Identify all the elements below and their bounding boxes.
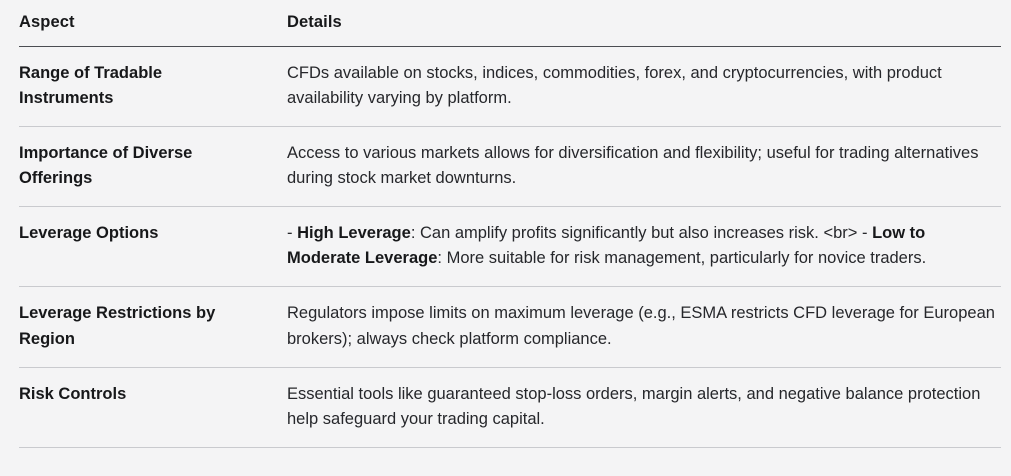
cell-details: CFDs available on stocks, indices, commo…: [268, 47, 1001, 127]
aspect-details-table: Aspect Details Range of Tradable Instrum…: [19, 0, 1001, 448]
cell-aspect: Leverage Restrictions by Region: [19, 287, 268, 367]
details-text: Access to various markets allows for div…: [287, 144, 978, 187]
table-row: Leverage Options- High Leverage: Can amp…: [19, 207, 1001, 287]
table-container: Aspect Details Range of Tradable Instrum…: [0, 0, 1011, 476]
details-emphasis: High Leverage: [297, 224, 411, 242]
details-text: : More suitable for risk management, par…: [437, 249, 926, 267]
table-row: Leverage Restrictions by RegionRegulator…: [19, 287, 1001, 367]
details-text: Essential tools like guaranteed stop-los…: [287, 385, 980, 428]
cell-details: Access to various markets allows for div…: [268, 127, 1001, 207]
cell-aspect: Range of Tradable Instruments: [19, 47, 268, 127]
cell-aspect: Risk Controls: [19, 367, 268, 447]
table-body: Range of Tradable InstrumentsCFDs availa…: [19, 47, 1001, 448]
table-header: Aspect Details: [19, 0, 1001, 47]
cell-aspect: Importance of Diverse Offerings: [19, 127, 268, 207]
column-header-details: Details: [268, 0, 1001, 47]
details-text: -: [287, 224, 297, 242]
table-header-row: Aspect Details: [19, 0, 1001, 47]
cell-details: Essential tools like guaranteed stop-los…: [268, 367, 1001, 447]
details-text: Regulators impose limits on maximum leve…: [287, 304, 995, 347]
cell-details: Regulators impose limits on maximum leve…: [268, 287, 1001, 367]
table-row: Risk ControlsEssential tools like guaran…: [19, 367, 1001, 447]
details-text: : Can amplify profits significantly but …: [411, 224, 872, 242]
details-text: CFDs available on stocks, indices, commo…: [287, 64, 942, 107]
table-row: Range of Tradable InstrumentsCFDs availa…: [19, 47, 1001, 127]
table-row: Importance of Diverse OfferingsAccess to…: [19, 127, 1001, 207]
cell-details: - High Leverage: Can amplify profits sig…: [268, 207, 1001, 287]
cell-aspect: Leverage Options: [19, 207, 268, 287]
column-header-aspect: Aspect: [19, 0, 268, 47]
